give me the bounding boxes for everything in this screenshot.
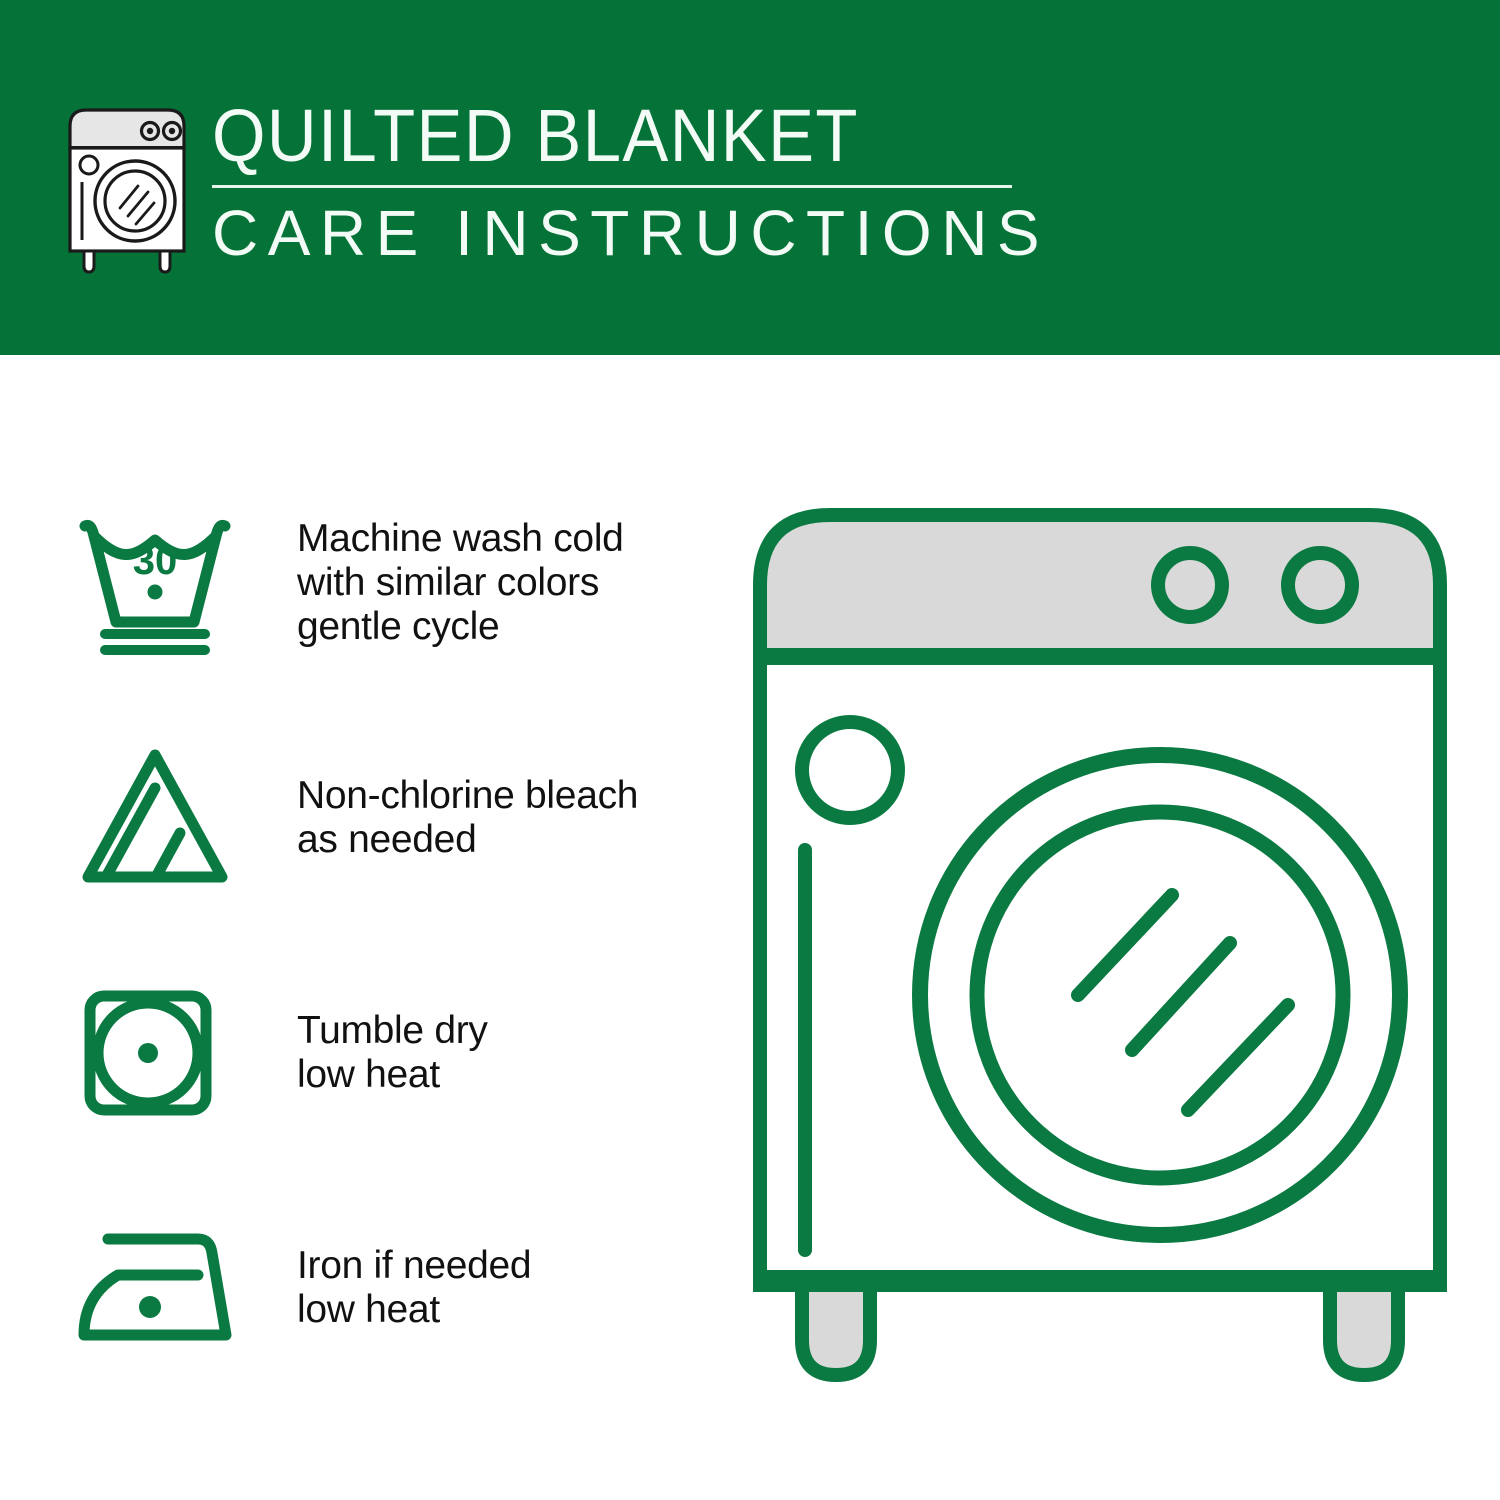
title-block: QUILTED BLANKET CARE INSTRUCTIONS (212, 96, 1049, 268)
list-item: Non-chlorine bleach as needed (70, 730, 710, 905)
machine-leg (802, 1285, 870, 1375)
control-panel (760, 515, 1440, 655)
non-chlorine-bleach-triangle-icon (70, 743, 245, 893)
machine-leg (1330, 1285, 1398, 1375)
wash-tub-30-gentle-icon: 30 (70, 508, 245, 658)
list-item-label: Tumble dry low heat (297, 1009, 488, 1097)
iron-low-heat-icon (70, 1213, 245, 1363)
label-line: Non-chlorine bleach (297, 774, 638, 818)
list-item: 30 Machine wash cold with similar colors… (70, 495, 710, 670)
label-line: as needed (297, 818, 638, 862)
list-item-label: Non-chlorine bleach as needed (297, 774, 638, 862)
label-line: gentle cycle (297, 605, 624, 649)
label-line: Machine wash cold (297, 517, 624, 561)
wash-temperature-value: 30 (133, 539, 178, 583)
label-line: low heat (297, 1053, 488, 1097)
tumble-dry-low-icon (70, 978, 245, 1128)
page-subtitle: CARE INSTRUCTIONS (212, 198, 1049, 268)
page-title: QUILTED BLANKET (212, 96, 990, 176)
label-line: Tumble dry (297, 1009, 488, 1053)
care-instruction-list: 30 Machine wash cold with similar colors… (70, 495, 710, 1375)
label-line: Iron if needed (297, 1244, 531, 1288)
list-item: Iron if needed low heat (70, 1200, 710, 1375)
title-divider (212, 185, 1012, 188)
label-line: with similar colors (297, 561, 624, 605)
list-item: Tumble dry low heat (70, 965, 710, 1140)
list-item-label: Machine wash cold with similar colors ge… (297, 517, 624, 649)
label-line: low heat (297, 1288, 531, 1332)
header-content: QUILTED BLANKET CARE INSTRUCTIONS (62, 96, 1049, 276)
washing-machine-icon (62, 104, 192, 276)
list-item-label: Iron if needed low heat (297, 1244, 531, 1332)
front-load-washing-machine-illustration (740, 495, 1460, 1415)
content-area: 30 Machine wash cold with similar colors… (0, 355, 1500, 1500)
header-banner: QUILTED BLANKET CARE INSTRUCTIONS (0, 0, 1500, 355)
